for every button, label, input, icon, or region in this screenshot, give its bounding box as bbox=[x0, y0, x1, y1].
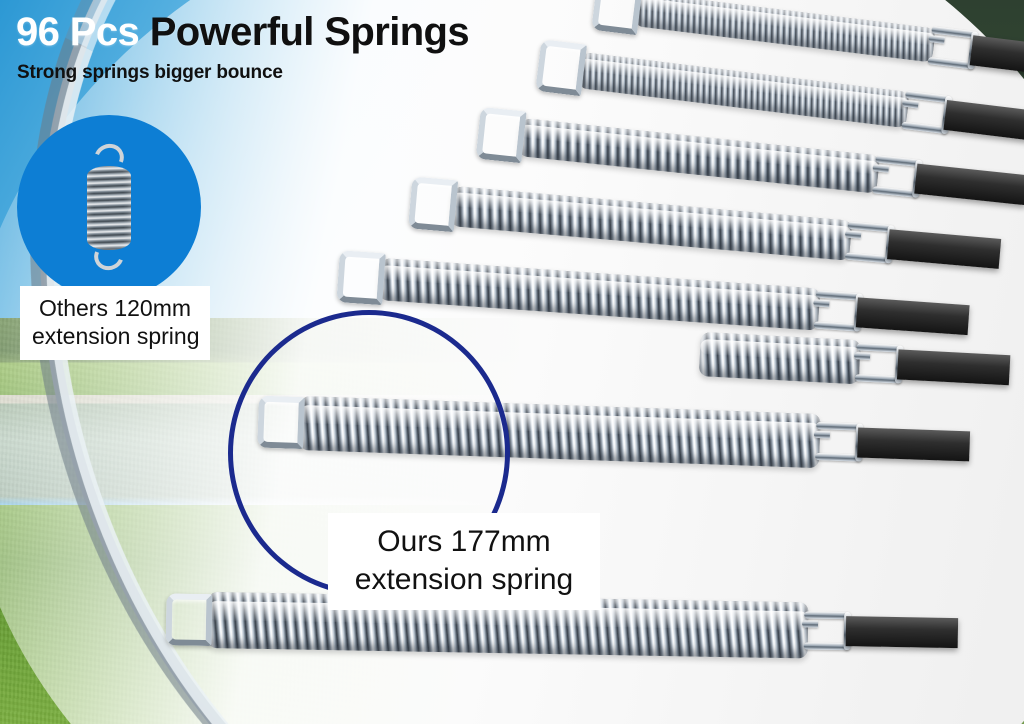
compressed-spring-icon bbox=[83, 144, 135, 270]
callout-others-line2: extension spring bbox=[32, 322, 198, 350]
spring-frame-clip bbox=[476, 107, 527, 164]
mat-strap bbox=[897, 349, 1010, 385]
callout-ours: Ours 177mm extension spring bbox=[328, 513, 600, 610]
spring-row bbox=[699, 332, 861, 384]
comparison-badge bbox=[17, 115, 201, 299]
mat-strap bbox=[857, 427, 970, 461]
headline-rest: Powerful Springs bbox=[150, 10, 469, 54]
spring-frame-clip bbox=[336, 250, 386, 305]
product-banner: 96 Pcs Powerful Springs Strong springs b… bbox=[0, 0, 1024, 724]
page-subtitle: Strong springs bigger bounce bbox=[17, 62, 283, 84]
spring-frame-clip bbox=[535, 39, 587, 96]
spring-frame-clip bbox=[591, 0, 643, 35]
spring-frame-clip bbox=[166, 593, 213, 646]
page-title: 96 Pcs Powerful Springs bbox=[16, 12, 469, 52]
spring-frame-clip bbox=[408, 176, 458, 232]
callout-others-line1: Others 120mm bbox=[32, 294, 198, 322]
mat-strap bbox=[846, 616, 959, 648]
spring-coil bbox=[699, 332, 861, 384]
callout-ours-line2: extension spring bbox=[338, 561, 590, 599]
callout-others: Others 120mm extension spring bbox=[20, 286, 210, 360]
headline-count: 96 Pcs bbox=[16, 10, 139, 54]
callout-ours-line1: Ours 177mm bbox=[338, 523, 590, 561]
spring-body-icon bbox=[87, 166, 131, 250]
